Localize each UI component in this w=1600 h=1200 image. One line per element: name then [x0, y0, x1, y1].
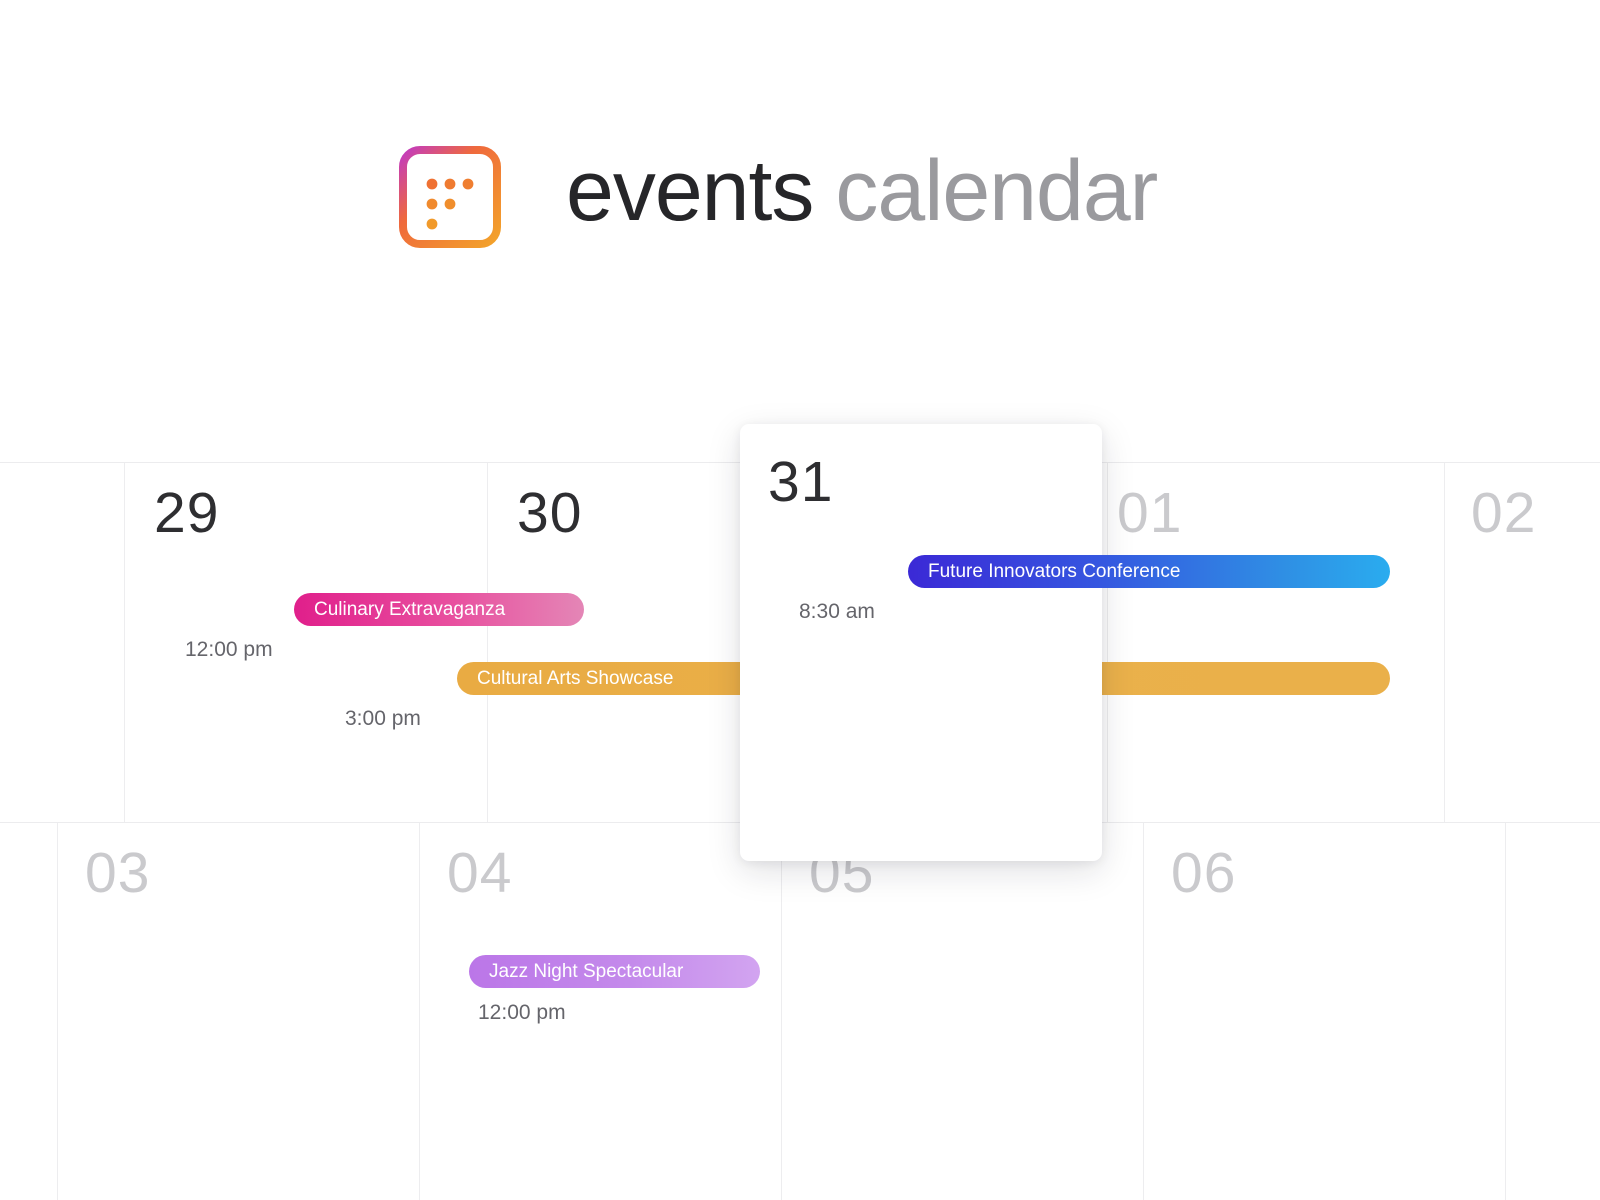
- day-number: 03: [85, 845, 150, 902]
- event-pill-jazz[interactable]: Jazz Night Spectacular: [469, 955, 760, 988]
- calendar-day-cell-trailing[interactable]: [1505, 823, 1600, 1200]
- event-time-conference: 8:30 am: [799, 600, 875, 624]
- event-pill-culinary[interactable]: Culinary Extravaganza: [294, 593, 584, 626]
- event-pill-conference[interactable]: Future Innovators Conference: [908, 555, 1390, 588]
- day-number: 02: [1471, 485, 1536, 542]
- calendar-day-cell-03[interactable]: 03: [57, 823, 419, 1200]
- brand-word-primary: events: [566, 148, 813, 234]
- day-number: 31: [768, 454, 833, 511]
- day-number: 29: [154, 485, 219, 542]
- day-number: 01: [1117, 485, 1182, 542]
- event-time-cultural: 3:00 pm: [345, 707, 421, 731]
- brand-wordmark: events calendar: [566, 148, 1157, 234]
- event-time-jazz: 12:00 pm: [478, 1001, 566, 1025]
- calendar-week-row: 03 04 05 06: [0, 822, 1600, 1200]
- event-title: Culinary Extravaganza: [314, 599, 505, 621]
- calendar-icon: [396, 132, 504, 250]
- calendar-day-cell-29[interactable]: 29: [124, 463, 487, 822]
- brand-header: events calendar: [396, 132, 1157, 250]
- selected-day-card[interactable]: 31: [740, 424, 1102, 861]
- calendar-day-cell-04[interactable]: 04: [419, 823, 781, 1200]
- calendar-day-cell-06[interactable]: 06: [1143, 823, 1505, 1200]
- event-title: Future Innovators Conference: [928, 561, 1180, 583]
- calendar-day-cell-02[interactable]: 02: [1444, 463, 1600, 822]
- event-title: Jazz Night Spectacular: [489, 961, 683, 983]
- events-calendar-page: events calendar 29 30 01 02 03: [0, 0, 1600, 1200]
- calendar-day-cell-01[interactable]: 01: [1107, 463, 1444, 822]
- event-title: Cultural Arts Showcase: [477, 668, 673, 690]
- day-number: 30: [517, 485, 582, 542]
- day-number: 06: [1171, 845, 1236, 902]
- event-time-culinary: 12:00 pm: [185, 638, 273, 662]
- brand-word-secondary: calendar: [835, 148, 1157, 234]
- calendar-day-cell-05[interactable]: 05: [781, 823, 1143, 1200]
- day-number: 04: [447, 845, 512, 902]
